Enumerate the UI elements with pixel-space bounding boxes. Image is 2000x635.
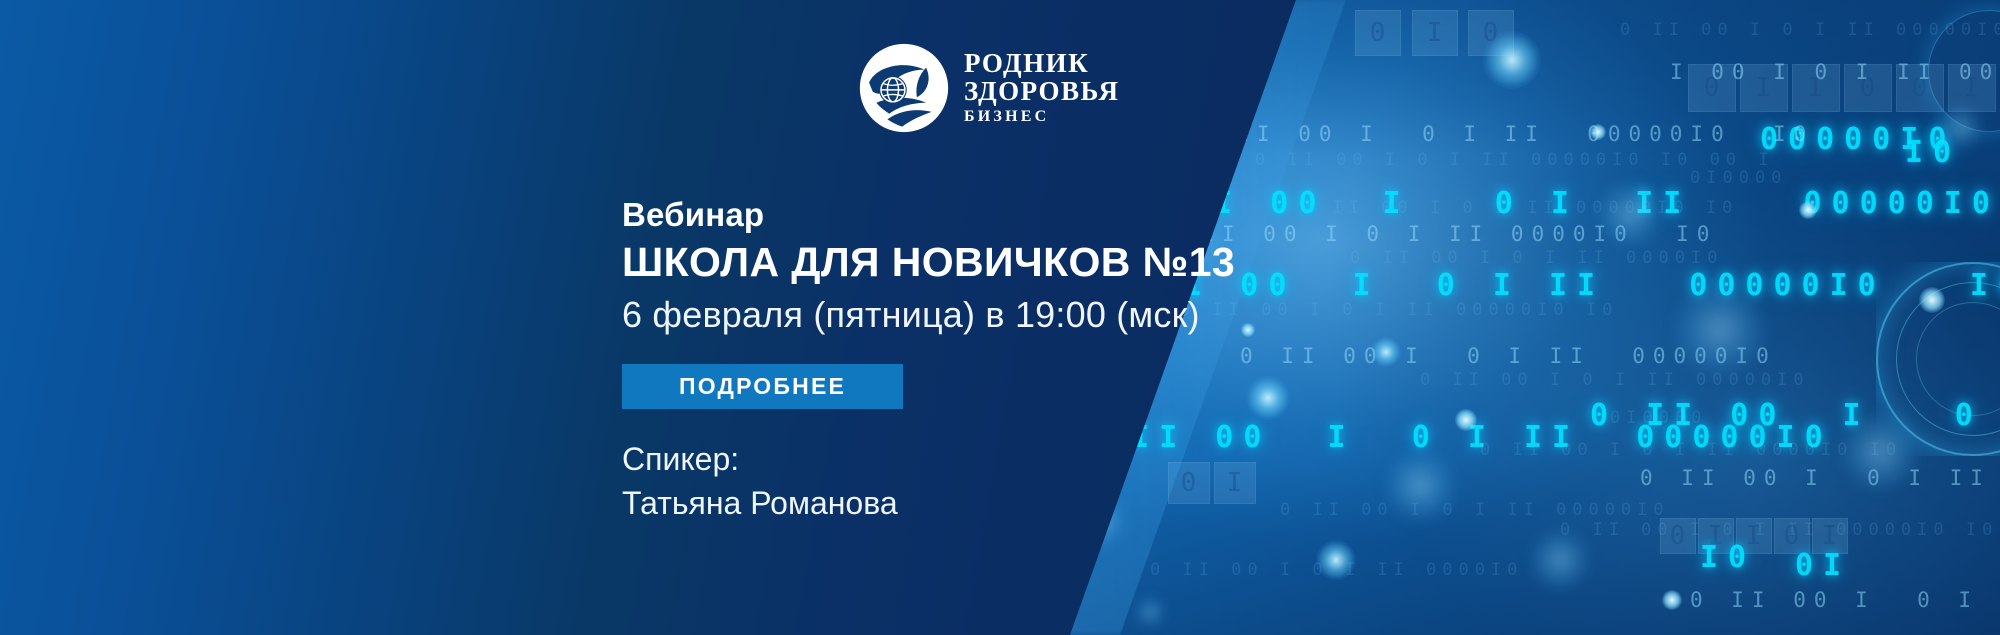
webinar-promo-banner: 0II00I0I00I0II0I 0 II 00 I 0 I II 00000I…	[0, 0, 2000, 635]
promo-copy-block: Вебинар ШКОЛА ДЛЯ НОВИЧКОВ №13 6 февраля…	[622, 196, 1235, 335]
brand-logo[interactable]: РОДНИК ЗДОРОВЬЯ БИЗНЕС	[858, 42, 1119, 134]
speaker-label: Спикер:	[622, 441, 739, 477]
globe-leaf-emblem-icon	[858, 42, 950, 134]
page-title: ШКОЛА ДЛЯ НОВИЧКОВ №13	[622, 240, 1235, 286]
brand-line-3: БИЗНЕС	[964, 109, 1119, 125]
speaker-name: Татьяна Романова	[622, 481, 898, 525]
event-datetime: 6 февраля (пятница) в 19:00 (мск)	[622, 294, 1235, 335]
event-kicker: Вебинар	[622, 196, 1235, 234]
brand-line-1: РОДНИК	[964, 50, 1119, 78]
brand-wordmark: РОДНИК ЗДОРОВЬЯ БИЗНЕС	[964, 50, 1119, 125]
details-button[interactable]: ПОДРОБНЕЕ	[622, 364, 903, 409]
speaker-block: Спикер: Татьяна Романова	[622, 437, 898, 525]
brand-line-2: ЗДОРОВЬЯ	[964, 78, 1119, 106]
